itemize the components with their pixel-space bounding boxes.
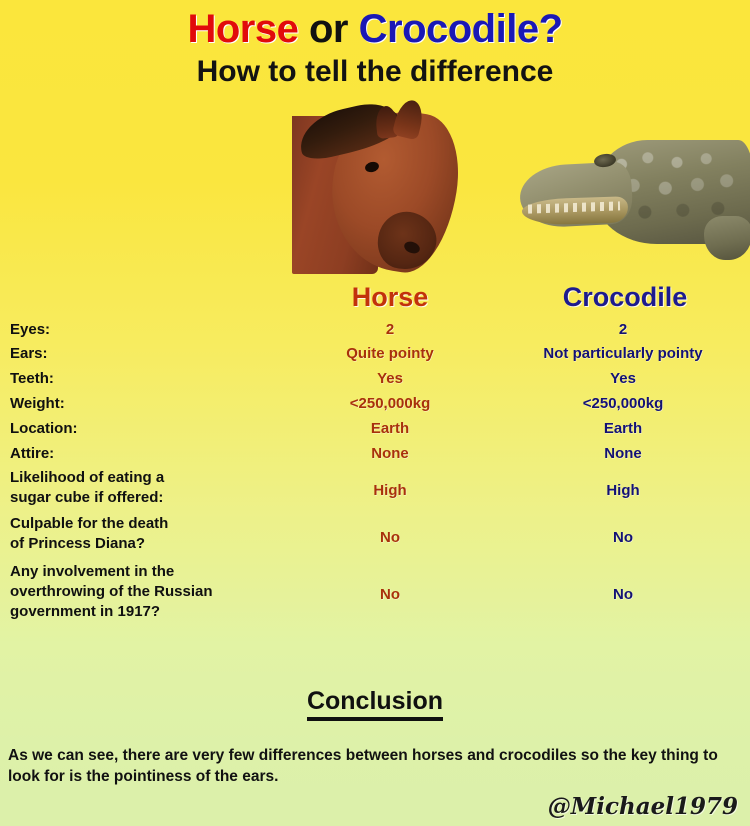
subtitle: How to tell the difference	[0, 54, 750, 90]
row-value-horse: <250,000kg	[290, 394, 490, 414]
animal-artwork	[0, 104, 750, 280]
row-label: Any involvement in the overthrowing of t…	[10, 562, 213, 622]
table-row: Culpable for the death of Princess Diana…	[0, 514, 750, 562]
meme-image: Horse or Crocodile? How to tell the diff…	[0, 0, 750, 826]
row-label: Culpable for the death of Princess Diana…	[10, 514, 168, 554]
row-value-horse: High	[290, 481, 490, 501]
row-value-horse: 2	[290, 320, 490, 340]
row-value-horse: Earth	[290, 419, 490, 439]
table-row: Likelihood of eating a sugar cube if off…	[0, 468, 750, 514]
comparison-table: Eyes: 2 2 Ears: Quite pointy Not particu…	[0, 320, 750, 628]
row-value-crocodile: No	[498, 528, 748, 548]
table-row: Teeth: Yes Yes	[0, 369, 750, 394]
conclusion-heading-block: Conclusion	[0, 686, 750, 721]
headline-horse-word: Horse	[187, 7, 298, 51]
table-row: Location: Earth Earth	[0, 419, 750, 444]
headline: Horse or Crocodile?	[0, 6, 750, 52]
crocodile-head-photo	[508, 124, 750, 274]
headline-crocodile-word: Crocodile?	[359, 7, 563, 51]
column-header-horse: Horse	[290, 280, 490, 314]
crocodile-foot-shape	[704, 216, 750, 260]
row-value-crocodile: No	[498, 585, 748, 605]
row-value-horse: Quite pointy	[290, 344, 490, 364]
row-value-crocodile: Not particularly pointy	[498, 344, 748, 364]
row-label: Teeth:	[10, 369, 54, 389]
row-value-crocodile: <250,000kg	[498, 394, 748, 414]
row-label: Likelihood of eating a sugar cube if off…	[10, 468, 164, 508]
row-value-crocodile: 2	[498, 320, 748, 340]
column-headers: Horse Crocodile	[0, 280, 750, 316]
horse-head-photo	[292, 104, 484, 276]
row-label: Eyes:	[10, 320, 50, 340]
table-row: Ears: Quite pointy Not particularly poin…	[0, 344, 750, 369]
row-value-crocodile: Earth	[498, 419, 748, 439]
row-value-crocodile: None	[498, 444, 748, 464]
row-value-horse: None	[290, 444, 490, 464]
watermark-credit: @Michael1979	[548, 793, 738, 820]
conclusion-body-text: As we can see, there are very few differ…	[8, 745, 744, 787]
row-label: Location:	[10, 419, 78, 439]
table-row: Any involvement in the overthrowing of t…	[0, 562, 750, 628]
row-value-horse: No	[290, 528, 490, 548]
row-label: Attire:	[10, 444, 54, 464]
table-row: Eyes: 2 2	[0, 320, 750, 344]
conclusion-heading: Conclusion	[307, 686, 443, 721]
table-row: Attire: None None	[0, 444, 750, 468]
headline-or-word: or	[298, 7, 358, 51]
row-value-horse: No	[290, 585, 490, 605]
title-block: Horse or Crocodile? How to tell the diff…	[0, 6, 750, 90]
row-label: Ears:	[10, 344, 48, 364]
table-row: Weight: <250,000kg <250,000kg	[0, 394, 750, 419]
row-value-crocodile: High	[498, 481, 748, 501]
column-header-crocodile: Crocodile	[500, 280, 750, 314]
row-value-horse: Yes	[290, 369, 490, 389]
row-value-crocodile: Yes	[498, 369, 748, 389]
row-label: Weight:	[10, 394, 65, 414]
